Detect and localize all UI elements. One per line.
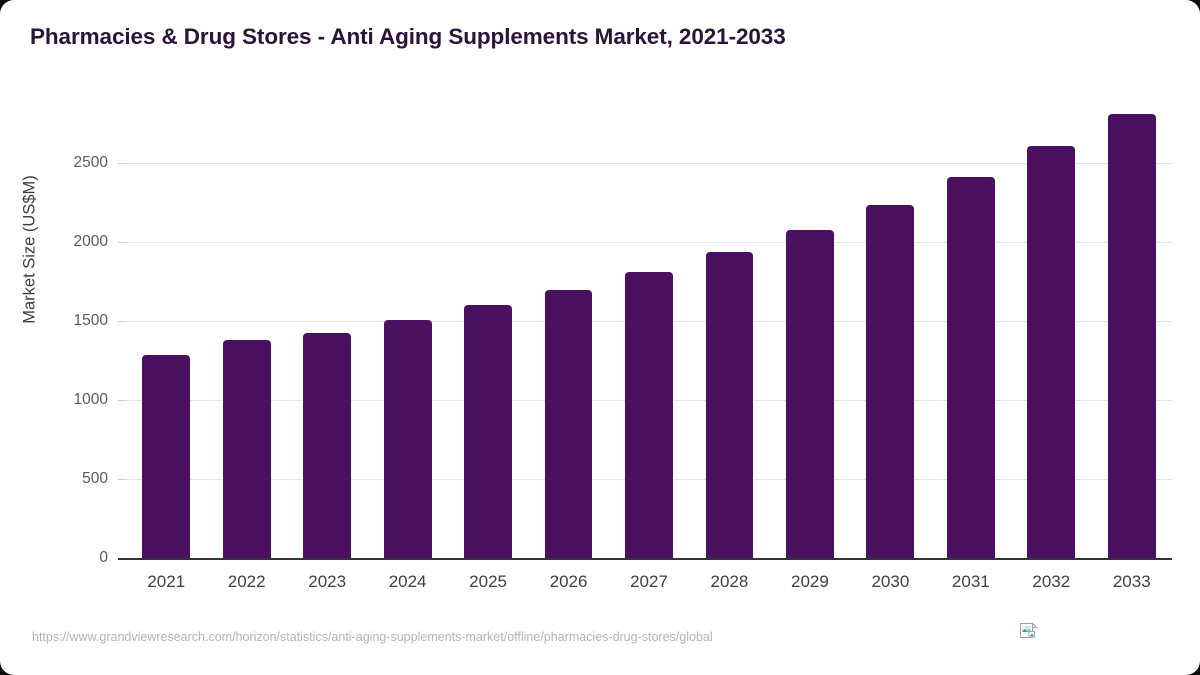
bar-2031[interactable] (947, 177, 995, 558)
x-tick-label-2021: 2021 (126, 572, 206, 592)
chart-card: Pharmacies & Drug Stores - Anti Aging Su… (0, 0, 1200, 675)
bar-2024[interactable] (384, 320, 432, 558)
x-tick-label-2025: 2025 (448, 572, 528, 592)
x-tick-label-2030: 2030 (850, 572, 930, 592)
bar-2027[interactable] (625, 272, 673, 558)
y-tick-mark (118, 400, 126, 401)
x-tick-label-2028: 2028 (689, 572, 769, 592)
bar-2029[interactable] (786, 230, 834, 558)
plot-area (126, 100, 1172, 558)
bar-2023[interactable] (303, 333, 351, 558)
x-axis-line (118, 558, 1172, 560)
x-tick-label-2029: 2029 (770, 572, 850, 592)
bar-2032[interactable] (1027, 146, 1075, 558)
y-tick-mark (118, 242, 126, 243)
broken-image-icon (1020, 623, 1037, 640)
y-tick-label: 0 (0, 549, 108, 567)
y-tick-mark (118, 163, 126, 164)
x-tick-label-2026: 2026 (528, 572, 608, 592)
bar-2033[interactable] (1108, 114, 1156, 558)
x-tick-label-2022: 2022 (206, 572, 286, 592)
source-url-text: https://www.grandviewresearch.com/horizo… (32, 630, 713, 644)
bar-2026[interactable] (545, 290, 593, 558)
y-tick-mark (118, 479, 126, 480)
x-tick-label-2027: 2027 (609, 572, 689, 592)
x-tick-label-2024: 2024 (367, 572, 447, 592)
page-title: Pharmacies & Drug Stores - Anti Aging Su… (30, 24, 786, 50)
bar-2021[interactable] (142, 355, 190, 558)
y-tick-label: 2500 (0, 154, 108, 172)
y-tick-mark (118, 321, 126, 322)
y-tick-label: 1500 (0, 312, 108, 330)
bar-2022[interactable] (223, 340, 271, 558)
bar-2028[interactable] (706, 252, 754, 558)
y-tick-label: 2000 (0, 233, 108, 251)
x-tick-label-2031: 2031 (931, 572, 1011, 592)
bar-2030[interactable] (866, 205, 914, 558)
x-tick-label-2023: 2023 (287, 572, 367, 592)
bar-2025[interactable] (464, 305, 512, 558)
y-tick-label: 500 (0, 470, 108, 488)
x-tick-label-2033: 2033 (1092, 572, 1172, 592)
x-tick-label-2032: 2032 (1011, 572, 1091, 592)
y-tick-label: 1000 (0, 391, 108, 409)
